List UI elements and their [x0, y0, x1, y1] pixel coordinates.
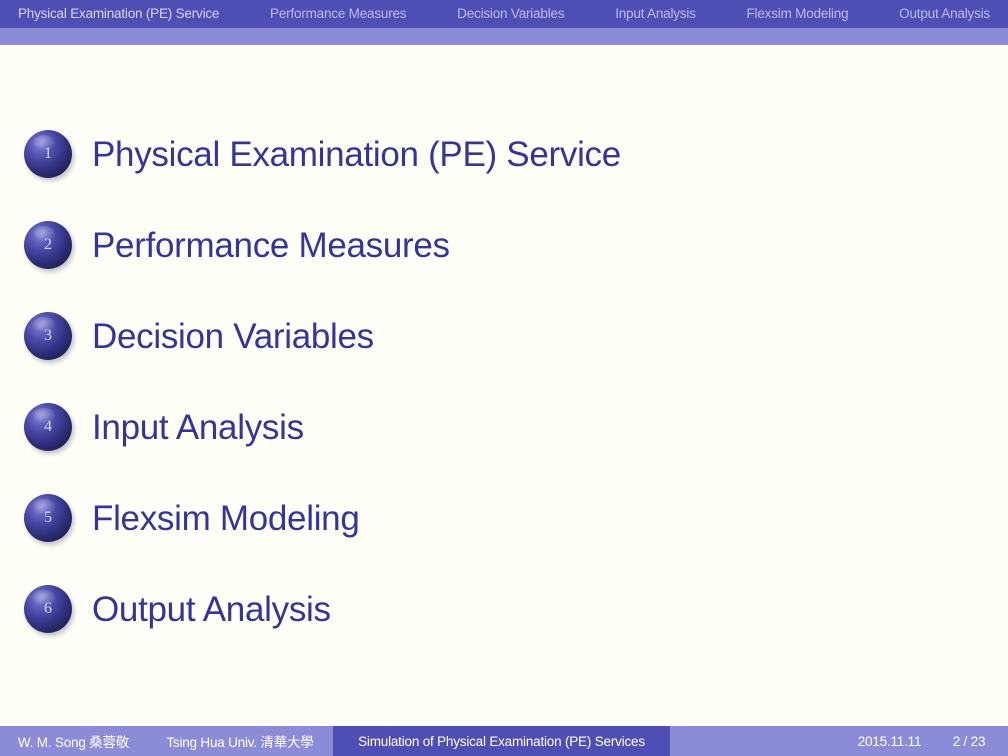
footer-date: 2015.11.11	[843, 726, 936, 756]
toc-entry-label: Physical Examination (PE) Service	[92, 137, 621, 172]
numbered-sphere-bullet-icon: 1	[24, 130, 72, 178]
footer-page-number: 2 / 23	[936, 726, 1008, 756]
list-item[interactable]: 2 Performance Measures	[24, 221, 984, 269]
nav-item-physical-examination-pe-service[interactable]: Physical Examination (PE) Service	[14, 0, 223, 28]
navigation-underband	[0, 28, 1008, 45]
bullet-number: 4	[44, 419, 52, 435]
bullet-number: 5	[44, 510, 52, 526]
bullet-number: 2	[44, 237, 52, 253]
list-item[interactable]: 1 Physical Examination (PE) Service	[24, 130, 984, 178]
nav-item-input-analysis[interactable]: Input Analysis	[611, 0, 700, 28]
footer-author: W. M. Song 桑蓉敬	[0, 726, 147, 756]
nav-item-output-analysis[interactable]: Output Analysis	[895, 0, 994, 28]
nav-item-performance-measures[interactable]: Performance Measures	[266, 0, 410, 28]
slide-footer: W. M. Song 桑蓉敬 Tsing Hua Univ. 清華大學 Simu…	[0, 726, 1008, 756]
bullet-number: 3	[44, 328, 52, 344]
toc-entry-label: Performance Measures	[92, 228, 450, 263]
list-item[interactable]: 4 Input Analysis	[24, 403, 984, 451]
nav-item-flexsim-modeling[interactable]: Flexsim Modeling	[743, 0, 853, 28]
footer-presentation-title: Simulation of Physical Examination (PE) …	[333, 726, 670, 756]
slide-content-area: 1 Physical Examination (PE) Service 2 Pe…	[0, 45, 1008, 726]
numbered-sphere-bullet-icon: 5	[24, 494, 72, 542]
list-item[interactable]: 5 Flexsim Modeling	[24, 494, 984, 542]
numbered-sphere-bullet-icon: 3	[24, 312, 72, 360]
nav-item-decision-variables[interactable]: Decision Variables	[453, 0, 568, 28]
bullet-number: 1	[44, 146, 52, 162]
numbered-sphere-bullet-icon: 6	[24, 585, 72, 633]
toc-entry-label: Output Analysis	[92, 592, 331, 627]
numbered-sphere-bullet-icon: 4	[24, 403, 72, 451]
bullet-number: 6	[44, 601, 52, 617]
list-item[interactable]: 6 Output Analysis	[24, 585, 984, 633]
top-navigation-bar: Physical Examination (PE) Service Perfor…	[0, 0, 1008, 28]
toc-entry-label: Decision Variables	[92, 319, 374, 354]
footer-spacer	[670, 726, 843, 756]
numbered-sphere-bullet-icon: 2	[24, 221, 72, 269]
toc-entry-label: Input Analysis	[92, 410, 304, 445]
table-of-contents-list: 1 Physical Examination (PE) Service 2 Pe…	[24, 130, 984, 676]
footer-institute: Tsing Hua Univ. 清華大學	[147, 726, 333, 756]
list-item[interactable]: 3 Decision Variables	[24, 312, 984, 360]
toc-entry-label: Flexsim Modeling	[92, 501, 360, 536]
